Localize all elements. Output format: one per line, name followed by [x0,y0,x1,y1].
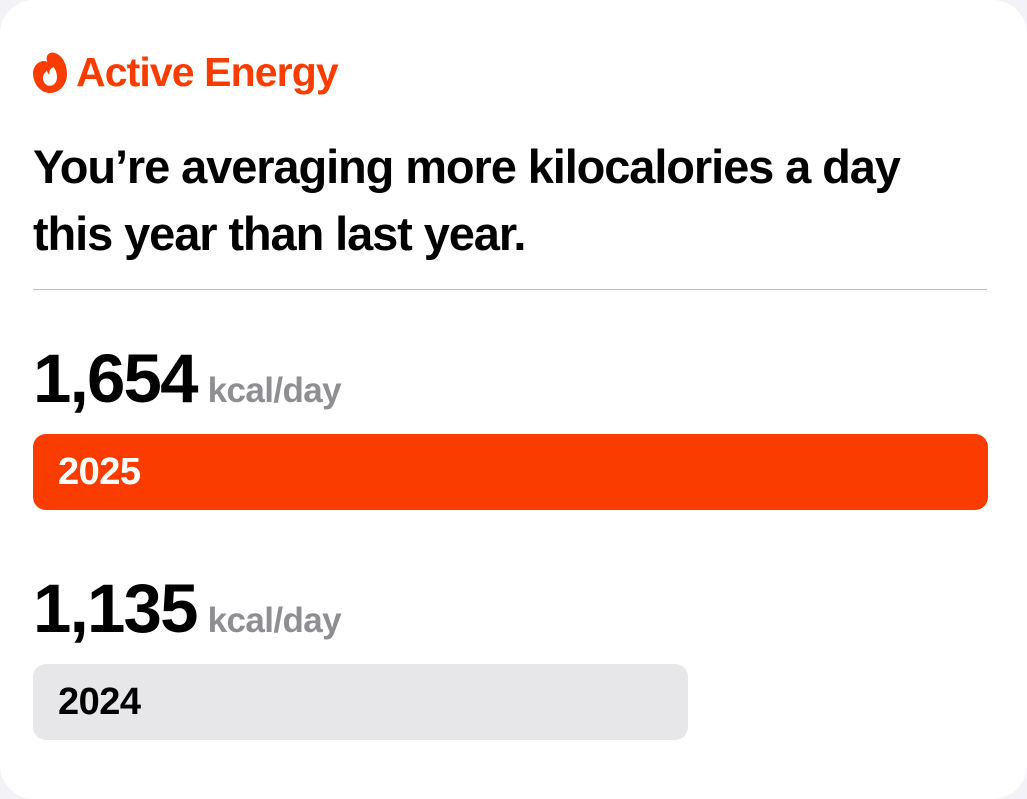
stat-group-2024: 1,135 kcal/day 2024 [33,574,993,740]
stat-value-row: 1,135 kcal/day [33,574,993,646]
stat-group-2025: 1,654 kcal/day 2025 [33,344,993,510]
headline-text: You’re averaging more kilocalories a day… [33,134,933,267]
stat-bar-2024[interactable]: 2024 [33,664,688,740]
flame-icon [33,52,67,94]
stat-value: 1,135 [33,574,197,643]
card-title: Active Energy [76,52,338,93]
card-header: Active Energy [33,44,338,100]
stat-value: 1,654 [33,344,197,413]
stat-unit: kcal/day [208,373,341,408]
section-divider [33,289,987,290]
stat-value-row: 1,654 kcal/day [33,344,993,416]
stat-bar-2025[interactable]: 2025 [33,434,988,510]
stat-unit: kcal/day [208,603,341,638]
stat-bar-label: 2025 [58,453,141,491]
active-energy-card: Active Energy You’re averaging more kilo… [0,0,1027,799]
stat-bar-label: 2024 [58,683,141,721]
